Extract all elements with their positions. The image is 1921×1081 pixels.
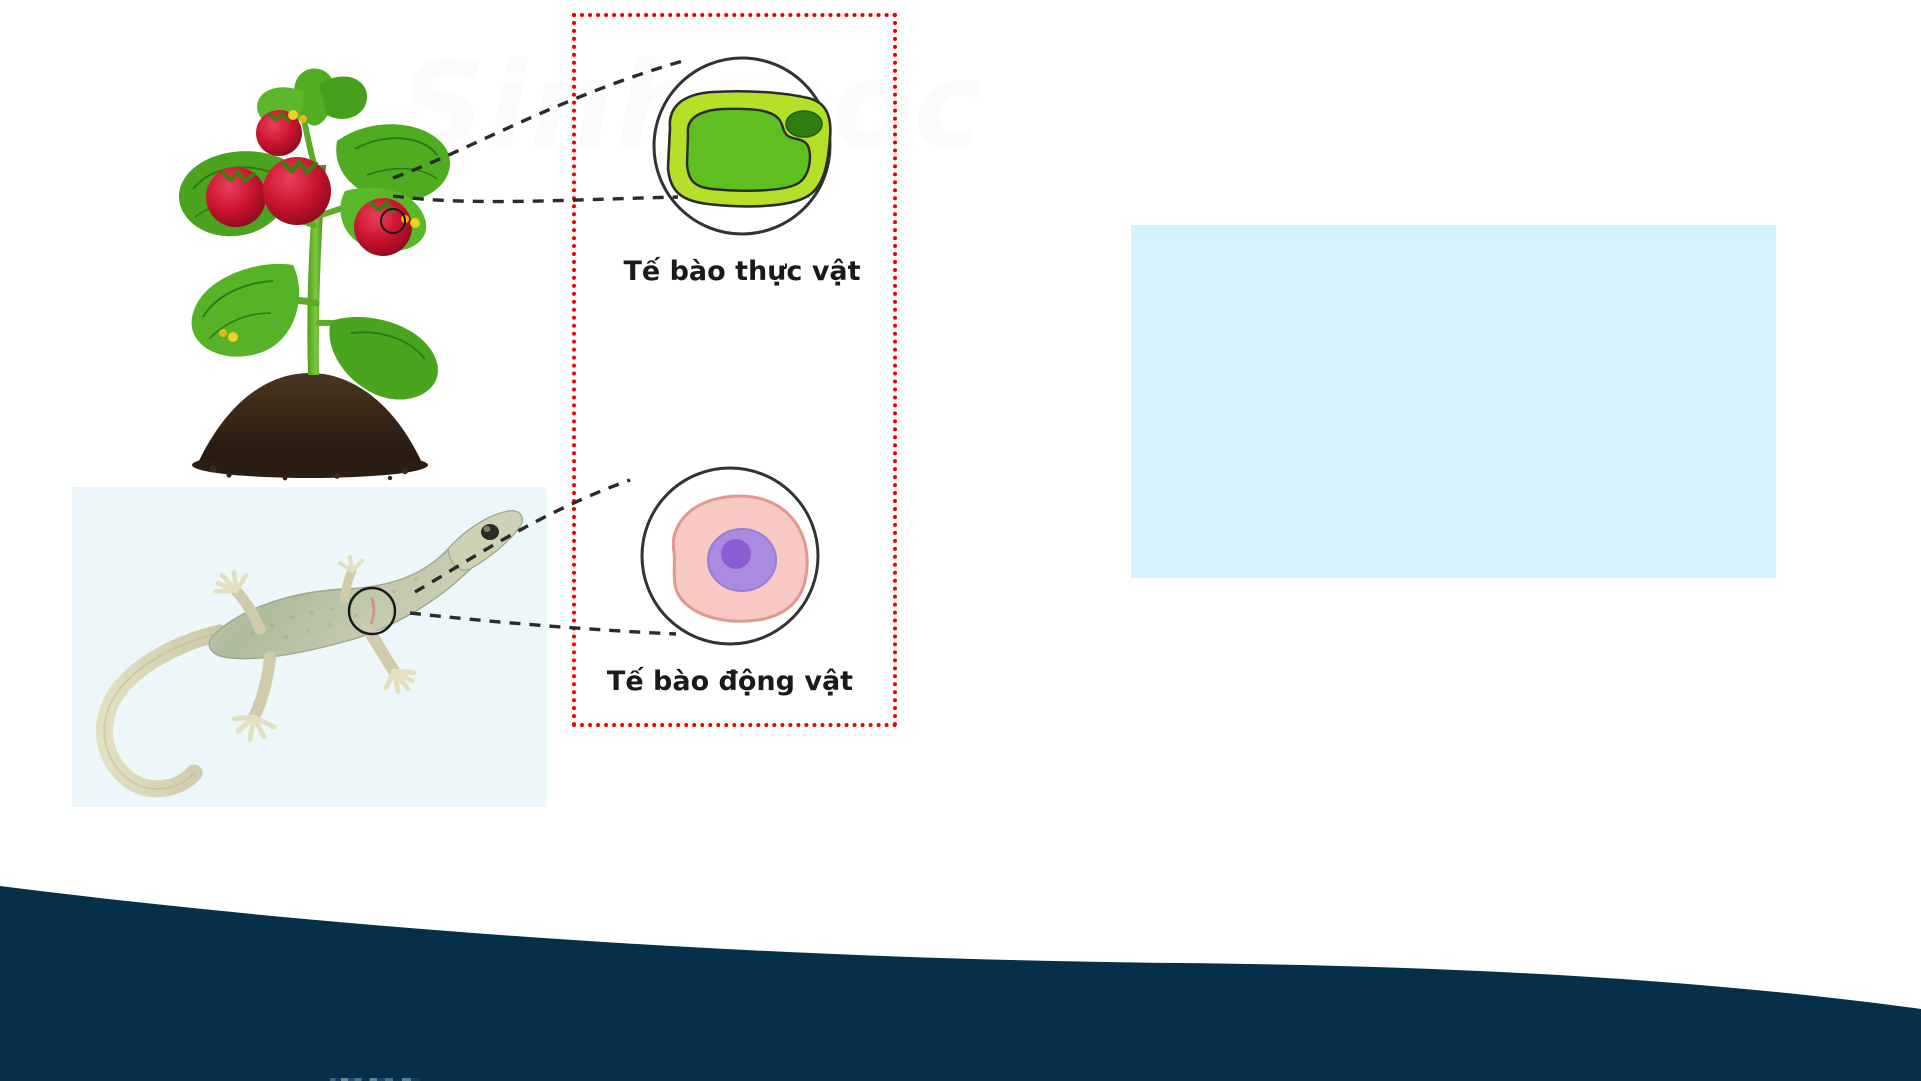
plant-cell-diagram — [612, 46, 872, 246]
tomato-plant-illustration — [105, 45, 505, 490]
gecko-photo — [72, 487, 547, 807]
empty-content-placeholder[interactable] — [1131, 225, 1776, 578]
gecko-eye — [481, 524, 499, 540]
plant-cell-nucleus — [786, 111, 822, 137]
tomato-plant-photo — [105, 45, 505, 490]
wave-shape — [0, 886, 1921, 1081]
plant-cell-figure: Tế bào thực vật — [612, 46, 872, 287]
animal-cell-diagram — [600, 456, 860, 656]
slide-canvas: Sinh hoc — [0, 0, 1921, 1081]
tomato-fruit — [263, 157, 331, 225]
plant-cell-caption: Tế bào thực vật — [612, 256, 872, 287]
bottom-navy-wave — [0, 851, 1921, 1081]
animal-cell-caption: Tế bào động vật — [600, 666, 860, 697]
animal-cell-figure: Tế bào động vật — [600, 456, 860, 697]
tomato-fruit — [206, 167, 266, 227]
gecko-illustration — [72, 487, 547, 807]
animal-cell-nucleolus — [721, 539, 751, 569]
